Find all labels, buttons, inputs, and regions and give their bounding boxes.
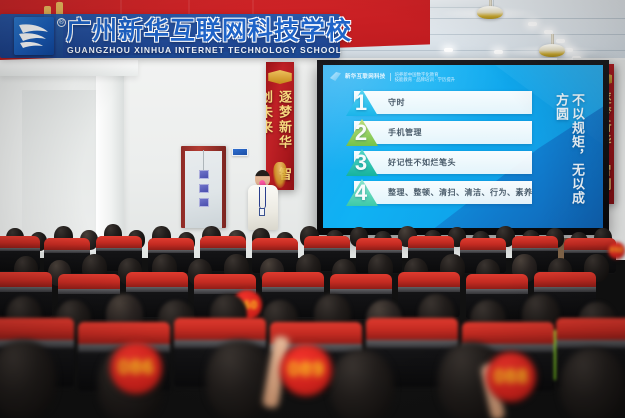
slide-item-label: 守时 <box>388 98 405 108</box>
soffit <box>0 60 138 76</box>
slide-item: 1 守时 <box>354 91 532 114</box>
auditorium-photo: 逐梦新华 智创未来 逐梦新华 智创未来 新华互联网科技 培养新中国数字化教育 技… <box>0 0 625 418</box>
seat-number-badge: 088 <box>486 352 536 402</box>
lanyard <box>259 187 266 209</box>
slide-item-number: 2 <box>346 119 376 146</box>
left-vertical-banner: 逐梦新华 智创未来 <box>266 62 294 190</box>
slide-item-list: 1 守时 2 手机管理 3 好记性不如烂笔头 4 整理、整顿、清扫、清洁、行为、… <box>354 91 532 204</box>
slide-canvas: 新华互联网科技 培养新中国数字化教育 技能教育 · 品牌培训 · 学历提升 1 … <box>323 65 603 228</box>
slide-brand-sub2: 技能教育 · 品牌培训 · 学历提升 <box>395 77 456 82</box>
slide-item-number: 3 <box>346 149 376 176</box>
slide-item-number: 1 <box>346 89 376 116</box>
seat-number-badge: 089 <box>280 344 332 396</box>
slide-item-label: 好记性不如烂笔头 <box>388 158 456 168</box>
school-name-cn: 广州新华互联网科技学校 <box>66 18 352 45</box>
registered-mark-icon: ® <box>57 18 66 27</box>
slide-item-number: 4 <box>346 179 376 206</box>
slide-item: 2 手机管理 <box>354 121 532 144</box>
school-header-banner: ® 广州新华互联网科技学校 GUANGZHOU XINHUA INTERNET … <box>0 0 625 62</box>
audience-seating: 032 060 08 <box>0 214 625 418</box>
slide-brand-name: 新华互联网科技 <box>345 74 386 80</box>
slide-brand-header: 新华互联网科技 培养新中国数字化教育 技能教育 · 品牌培训 · 学历提升 <box>330 71 455 82</box>
slide-brand-divider <box>390 73 391 81</box>
slide-logo-icon <box>330 72 341 82</box>
swoosh-logo-icon <box>14 17 54 55</box>
school-name-en: GUANGZHOU XINHUA INTERNET TECHNOLOGY SCH… <box>67 45 342 55</box>
slide-vertical-motto: 不以规矩，无以成方圆 <box>553 93 585 211</box>
presentation-screen: 新华互联网科技 培养新中国数字化教育 技能教育 · 品牌培训 · 学历提升 1 … <box>317 60 609 235</box>
seat-number-badge: 032 <box>608 242 625 259</box>
wall-sign <box>232 148 248 156</box>
seat-number-badge: 086 <box>110 342 162 394</box>
slide-item: 4 整理、整顿、清扫、清洁、行为、素养 <box>354 181 532 204</box>
slide-item: 3 好记性不如烂笔头 <box>354 151 532 174</box>
slide-item-label: 整理、整顿、清扫、清洁、行为、素养 <box>388 188 533 198</box>
slide-item-label: 手机管理 <box>388 128 422 138</box>
